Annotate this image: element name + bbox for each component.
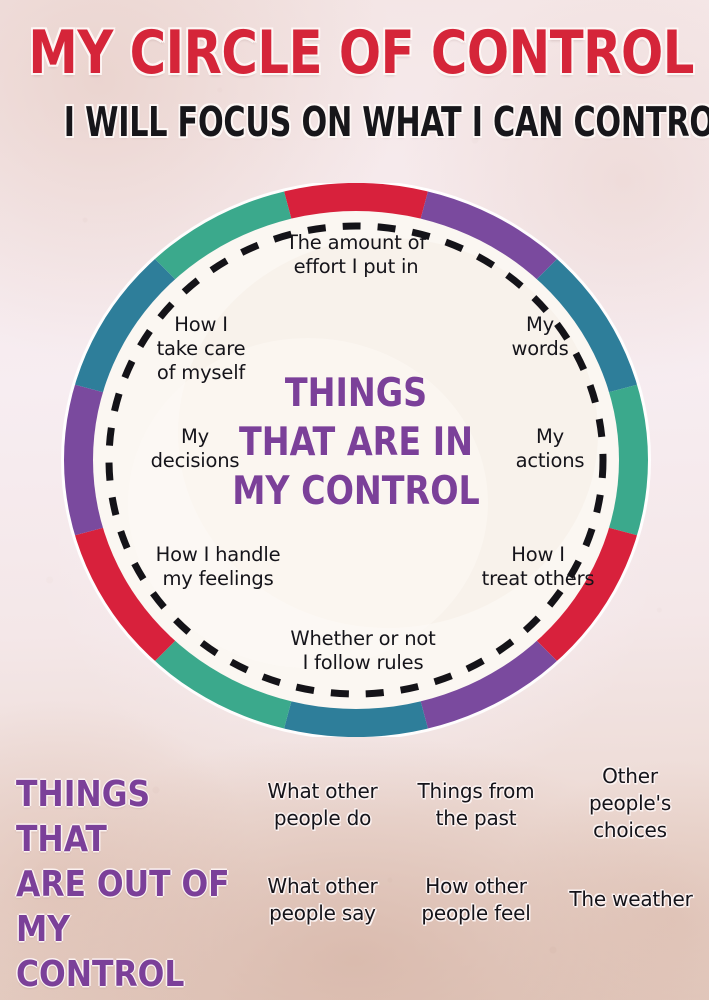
circle-of-control-diagram: The amount of effort I put in How I take… [58,183,654,737]
circle-labels: The amount of effort I put in How I take… [58,183,654,737]
out-of-control-item-others-feel: How other people feel [396,873,556,927]
in-control-label-rules: Whether or not I follow rules [238,627,488,675]
in-control-label-actions: My actions [470,425,630,473]
in-control-label-treat-others: How I treat others [448,543,628,591]
out-of-control-item-others-say: What other people say [240,873,405,927]
out-of-control-item-others-do: What other people do [240,778,405,832]
page-title: MY CIRCLE OF CONTROL [28,22,680,84]
circle-center-heading: THINGS THAT ARE IN MY CONTROL [232,369,480,516]
out-of-control-item-weather: The weather [556,886,706,913]
in-control-label-feelings: How I handle my feelings [108,543,328,591]
out-of-control-heading: THINGS THAT ARE OUT OF MY CONTROL [16,772,249,997]
in-control-label-words: My words [470,313,610,361]
poster-canvas: MY CIRCLE OF CONTROL I WILL FOCUS ON WHA… [0,0,709,1000]
page-subtitle: I WILL FOCUS ON WHAT I CAN CONTROL [64,100,645,144]
in-control-label-effort: The amount of effort I put in [226,231,486,279]
out-of-control-item-choices: Other people's choices [560,763,700,844]
out-of-control-item-past: Things from the past [396,778,556,832]
